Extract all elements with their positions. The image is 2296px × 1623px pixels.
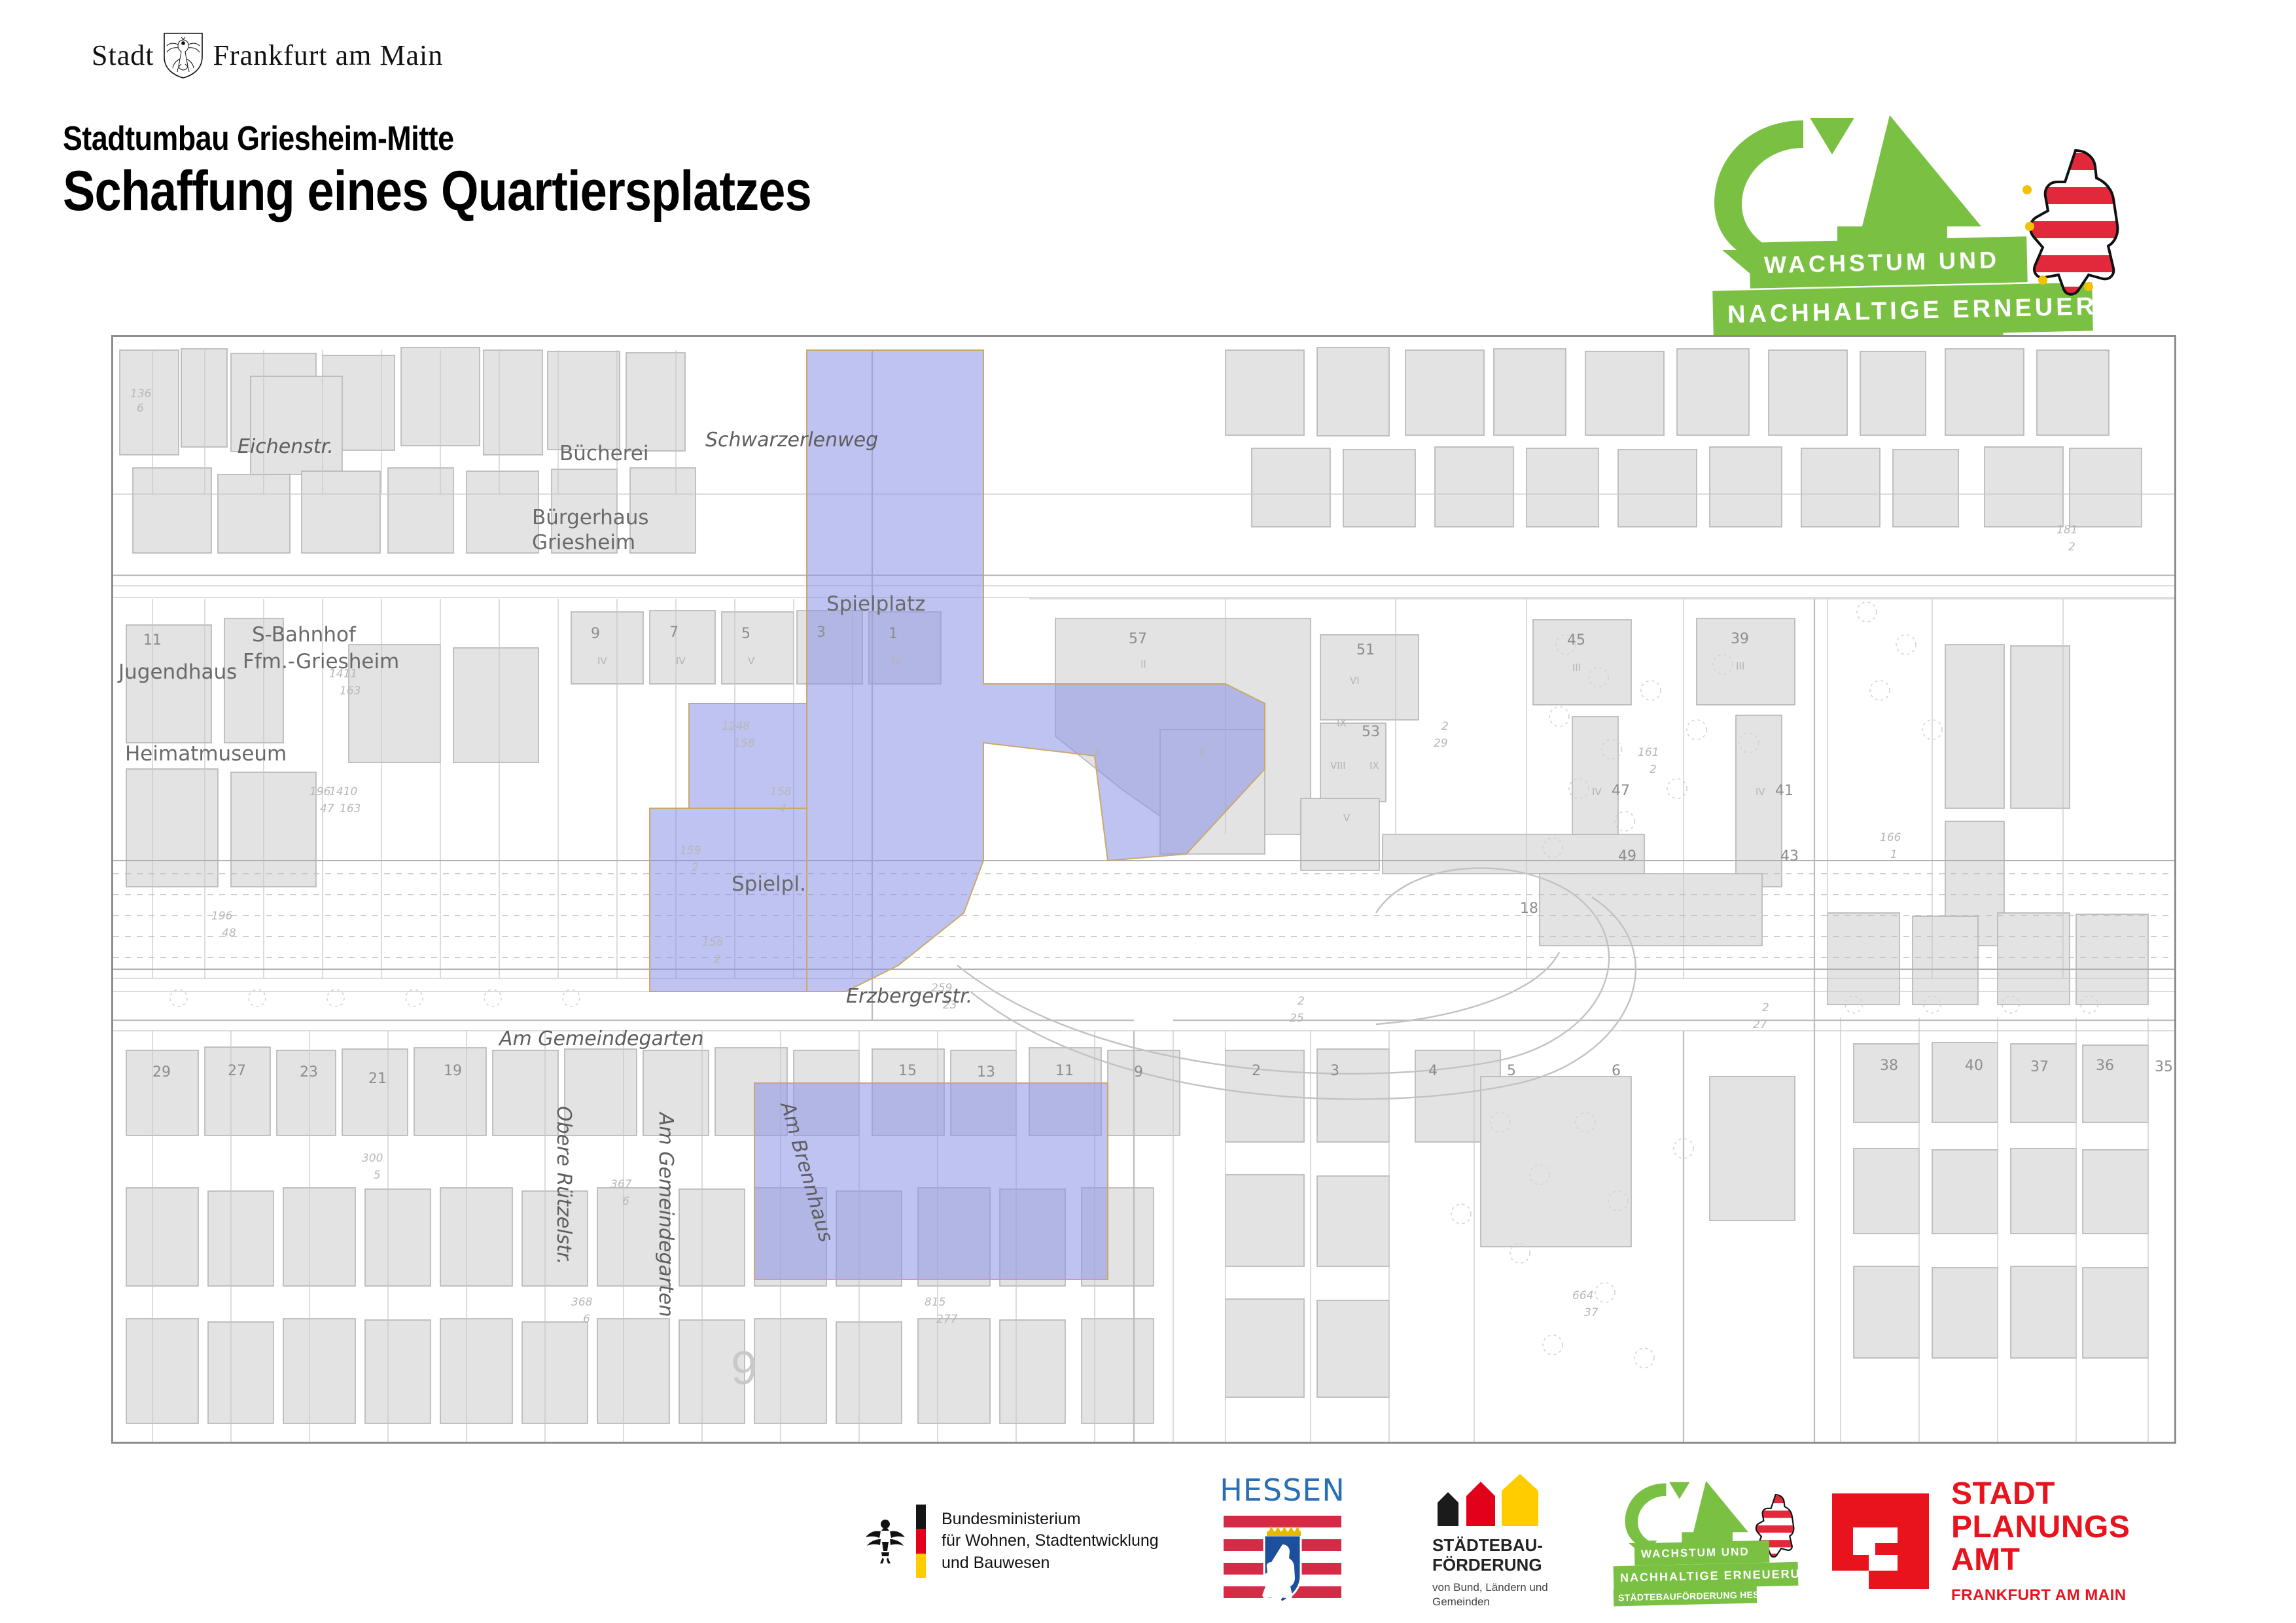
svg-text:47: 47 xyxy=(1612,783,1630,799)
map-place-label: Spielpl. xyxy=(732,872,806,896)
stbf-title-line2: FÖRDERUNG xyxy=(1432,1555,1551,1575)
svg-text:37: 37 xyxy=(2030,1059,2049,1075)
svg-text:57: 57 xyxy=(1129,631,1147,647)
spa-line2: PLANUNGS xyxy=(1951,1511,2130,1544)
svg-text:IV: IV xyxy=(597,655,607,667)
svg-text:367: 367 xyxy=(610,1178,632,1191)
wachstum-small-band-line1: WACHSTUM UND xyxy=(1634,1541,1770,1566)
site-plan-map[interactable]: 1366 1411163 1410163 1248158 1592 1582 1… xyxy=(111,335,2176,1444)
svg-text:IV: IV xyxy=(1756,786,1765,798)
svg-text:2: 2 xyxy=(1441,720,1449,733)
svg-text:1248: 1248 xyxy=(722,720,750,733)
svg-text:7: 7 xyxy=(669,624,679,641)
svg-text:368: 368 xyxy=(571,1296,593,1309)
svg-text:18: 18 xyxy=(1520,901,1538,917)
spa-line4: FRANKFURT AM MAIN xyxy=(1951,1586,2130,1605)
city-logo-right-word: Frankfurt am Main xyxy=(213,41,443,70)
svg-text:11: 11 xyxy=(143,632,162,649)
svg-text:6: 6 xyxy=(622,1195,629,1208)
svg-text:41: 41 xyxy=(1775,783,1793,799)
svg-text:29: 29 xyxy=(152,1064,171,1080)
map-street-label: Eichenstr. xyxy=(238,435,334,458)
svg-text:53: 53 xyxy=(1362,724,1380,740)
svg-text:IV: IV xyxy=(892,655,902,667)
map-street-label: Erzbergerstr. xyxy=(846,985,972,1008)
svg-text:181: 181 xyxy=(2057,524,2077,537)
map-place-label: Griesheim xyxy=(532,531,635,554)
svg-text:III: III xyxy=(1736,660,1744,672)
svg-text:2: 2 xyxy=(1762,1001,1769,1014)
svg-text:5: 5 xyxy=(1507,1063,1516,1079)
svg-text:815: 815 xyxy=(925,1296,945,1309)
frankfurt-eagle-crest-icon xyxy=(163,32,203,79)
map-place-label: Bürgerhaus xyxy=(532,506,649,529)
svg-text:166: 166 xyxy=(1880,831,1901,844)
svg-text:43: 43 xyxy=(1780,848,1799,865)
svg-text:VIII: VIII xyxy=(1330,760,1346,772)
svg-text:9: 9 xyxy=(1134,1064,1143,1080)
svg-text:V: V xyxy=(1343,812,1351,824)
svg-text:161: 161 xyxy=(1638,746,1659,759)
bmwsb-name: Bundesministerium für Wohnen, Stadtentwi… xyxy=(942,1508,1159,1575)
bmwsb-logo: Bundesministerium für Wohnen, Stadtentwi… xyxy=(864,1459,1204,1623)
svg-text:III: III xyxy=(1572,662,1581,673)
svg-text:11: 11 xyxy=(1055,1063,1074,1079)
page-title: Schaffung eines Quartiersplatzes xyxy=(63,159,811,224)
wachstum-band-line1: WACHSTUM UND xyxy=(1749,236,2027,289)
svg-text:4: 4 xyxy=(779,802,786,815)
funding-logo-bar: Bundesministerium für Wohnen, Stadtentwi… xyxy=(0,1459,2296,1623)
svg-text:25: 25 xyxy=(1290,1012,1304,1025)
wachstum-small-band-line3: STÄDTEBAUFÖRDERUNG HESSEN xyxy=(1614,1586,1757,1607)
svg-text:35: 35 xyxy=(2155,1059,2173,1075)
svg-text:21: 21 xyxy=(368,1071,387,1087)
bmwsb-line1: Bundesministerium xyxy=(942,1508,1159,1531)
svg-text:47: 47 xyxy=(320,802,334,815)
svg-text:6: 6 xyxy=(1612,1063,1621,1079)
svg-text:2: 2 xyxy=(2068,541,2075,554)
three-houses-icon xyxy=(1432,1474,1551,1526)
bmwsb-line2: für Wohnen, Stadtentwicklung xyxy=(942,1530,1159,1552)
svg-text:23: 23 xyxy=(300,1064,318,1080)
svg-text:13: 13 xyxy=(977,1064,995,1080)
svg-text:IV: IV xyxy=(1592,786,1602,798)
svg-text:1: 1 xyxy=(1890,848,1898,861)
svg-text:4: 4 xyxy=(1428,1063,1438,1079)
svg-text:48: 48 xyxy=(222,927,236,940)
map-parcel-big-number: 9 xyxy=(731,1342,757,1395)
staedtebaufoerderung-logo: STÄDTEBAU- FÖRDERUNG von Bund, Ländern u… xyxy=(1400,1459,1583,1623)
stadtplanungsamt-logo: STADT PLANUNGS AMT FRANKFURT AM MAIN xyxy=(1832,1459,2159,1623)
svg-text:27: 27 xyxy=(228,1063,246,1079)
svg-text:158: 158 xyxy=(770,785,792,798)
svg-text:IV: IV xyxy=(676,655,686,667)
hessen-lion-icon xyxy=(2013,141,2130,305)
svg-text:38: 38 xyxy=(1880,1058,1898,1074)
hessen-wordmark: HESSEN xyxy=(1220,1472,1345,1508)
svg-text:6: 6 xyxy=(583,1313,590,1326)
spa-line1: STADT xyxy=(1951,1478,2130,1511)
svg-text:II: II xyxy=(1095,747,1101,758)
hessen-coat-of-arms-icon xyxy=(1224,1513,1341,1610)
svg-text:2: 2 xyxy=(1298,995,1305,1008)
svg-text:664: 664 xyxy=(1572,1289,1593,1302)
svg-text:5: 5 xyxy=(741,626,751,642)
svg-text:159: 159 xyxy=(680,844,701,857)
svg-text:5: 5 xyxy=(374,1169,381,1182)
map-place-label: Spielplatz xyxy=(826,592,925,616)
svg-text:6: 6 xyxy=(137,402,144,415)
map-place-label: S-Bahnhof xyxy=(252,623,356,647)
spa-line3: AMT xyxy=(1951,1544,2130,1577)
svg-text:V: V xyxy=(748,655,755,667)
svg-text:300: 300 xyxy=(362,1152,383,1165)
svg-text:136: 136 xyxy=(130,387,152,401)
svg-text:196: 196 xyxy=(211,910,233,923)
map-street-label: Schwarzerlenweg xyxy=(705,429,878,452)
map-street-label: Obere Rützelstr. xyxy=(552,1106,575,1264)
svg-text:163: 163 xyxy=(340,802,361,815)
svg-text:1: 1 xyxy=(889,626,898,642)
svg-text:36: 36 xyxy=(2096,1058,2114,1074)
svg-text:2: 2 xyxy=(714,953,721,966)
svg-text:163: 163 xyxy=(340,685,361,698)
svg-text:51: 51 xyxy=(1356,642,1375,658)
svg-text:158: 158 xyxy=(733,737,755,750)
bmwsb-line3: und Bauwesen xyxy=(942,1552,1159,1575)
svg-text:39: 39 xyxy=(1731,631,1749,647)
svg-text:3: 3 xyxy=(817,624,826,641)
map-street-label: Am Gemeindegarten xyxy=(499,1027,704,1050)
stbf-subtitle: von Bund, Ländern und Gemeinden xyxy=(1432,1580,1551,1609)
stbf-subtitle-line2: Gemeinden xyxy=(1432,1595,1551,1609)
svg-text:40: 40 xyxy=(1965,1058,1983,1074)
svg-text:37: 37 xyxy=(1584,1306,1598,1319)
bundesadler-icon xyxy=(864,1516,907,1567)
svg-text:1410: 1410 xyxy=(329,785,357,798)
city-logo: Stadt Frankfurt am Main xyxy=(92,33,510,79)
page-subtitle: Stadtumbau Griesheim-Mitte xyxy=(63,119,454,158)
svg-text:2: 2 xyxy=(692,861,699,874)
svg-text:VI: VI xyxy=(1350,675,1360,687)
svg-text:II: II xyxy=(1140,658,1146,670)
wachstum-small-band-line2: NACHHALTIGE ERNEUERUNG xyxy=(1614,1562,1799,1590)
map-place-label: Bücherei xyxy=(559,442,648,465)
svg-text:IX: IX xyxy=(1369,760,1379,772)
stbf-title-line1: STÄDTEBAU- xyxy=(1432,1535,1551,1556)
city-logo-left-word: Stadt xyxy=(92,41,154,70)
svg-text:IX: IX xyxy=(1337,717,1347,729)
map-place-label: Jugendhaus xyxy=(118,660,237,684)
stadtplanungsamt-wordmark: STADT PLANUNGS AMT FRANKFURT AM MAIN xyxy=(1951,1478,2130,1605)
map-place-label: Heimatmuseum xyxy=(125,742,287,766)
svg-text:27: 27 xyxy=(1753,1018,1767,1031)
wachstum-erneuerung-logo-small: WACHSTUM UND NACHHALTIGE ERNEUERUNG STÄD… xyxy=(1610,1459,1826,1623)
map-street-label: Am Gemeindegarten xyxy=(654,1113,677,1317)
svg-text:19: 19 xyxy=(444,1063,462,1079)
german-flag-icon xyxy=(916,1505,926,1578)
svg-text:15: 15 xyxy=(898,1063,917,1079)
svg-text:158: 158 xyxy=(702,936,724,949)
svg-text:29: 29 xyxy=(1434,737,1448,750)
svg-text:3: 3 xyxy=(1330,1063,1339,1079)
map-place-label: Ffm.-Griesheim xyxy=(243,650,399,673)
cadastral-map-graphic: 1366 1411163 1410163 1248158 1592 1582 1… xyxy=(113,337,2174,1442)
svg-text:II: II xyxy=(1199,747,1205,758)
hessen-logo: HESSEN xyxy=(1217,1459,1348,1623)
svg-text:277: 277 xyxy=(936,1313,958,1326)
svg-text:9: 9 xyxy=(591,626,600,642)
svg-text:196: 196 xyxy=(309,785,331,798)
svg-text:45: 45 xyxy=(1567,632,1585,649)
svg-text:2: 2 xyxy=(1252,1063,1261,1079)
svg-text:2: 2 xyxy=(1650,763,1657,776)
stbf-title: STÄDTEBAU- FÖRDERUNG xyxy=(1432,1535,1551,1575)
page-header: Stadt Frankfurt am Main Stadtumbau Gries… xyxy=(0,0,2296,327)
stadtplanungsamt-mark-icon xyxy=(1832,1493,1929,1589)
stbf-subtitle-line1: von Bund, Ländern und xyxy=(1432,1580,1551,1595)
svg-text:49: 49 xyxy=(1618,848,1636,865)
